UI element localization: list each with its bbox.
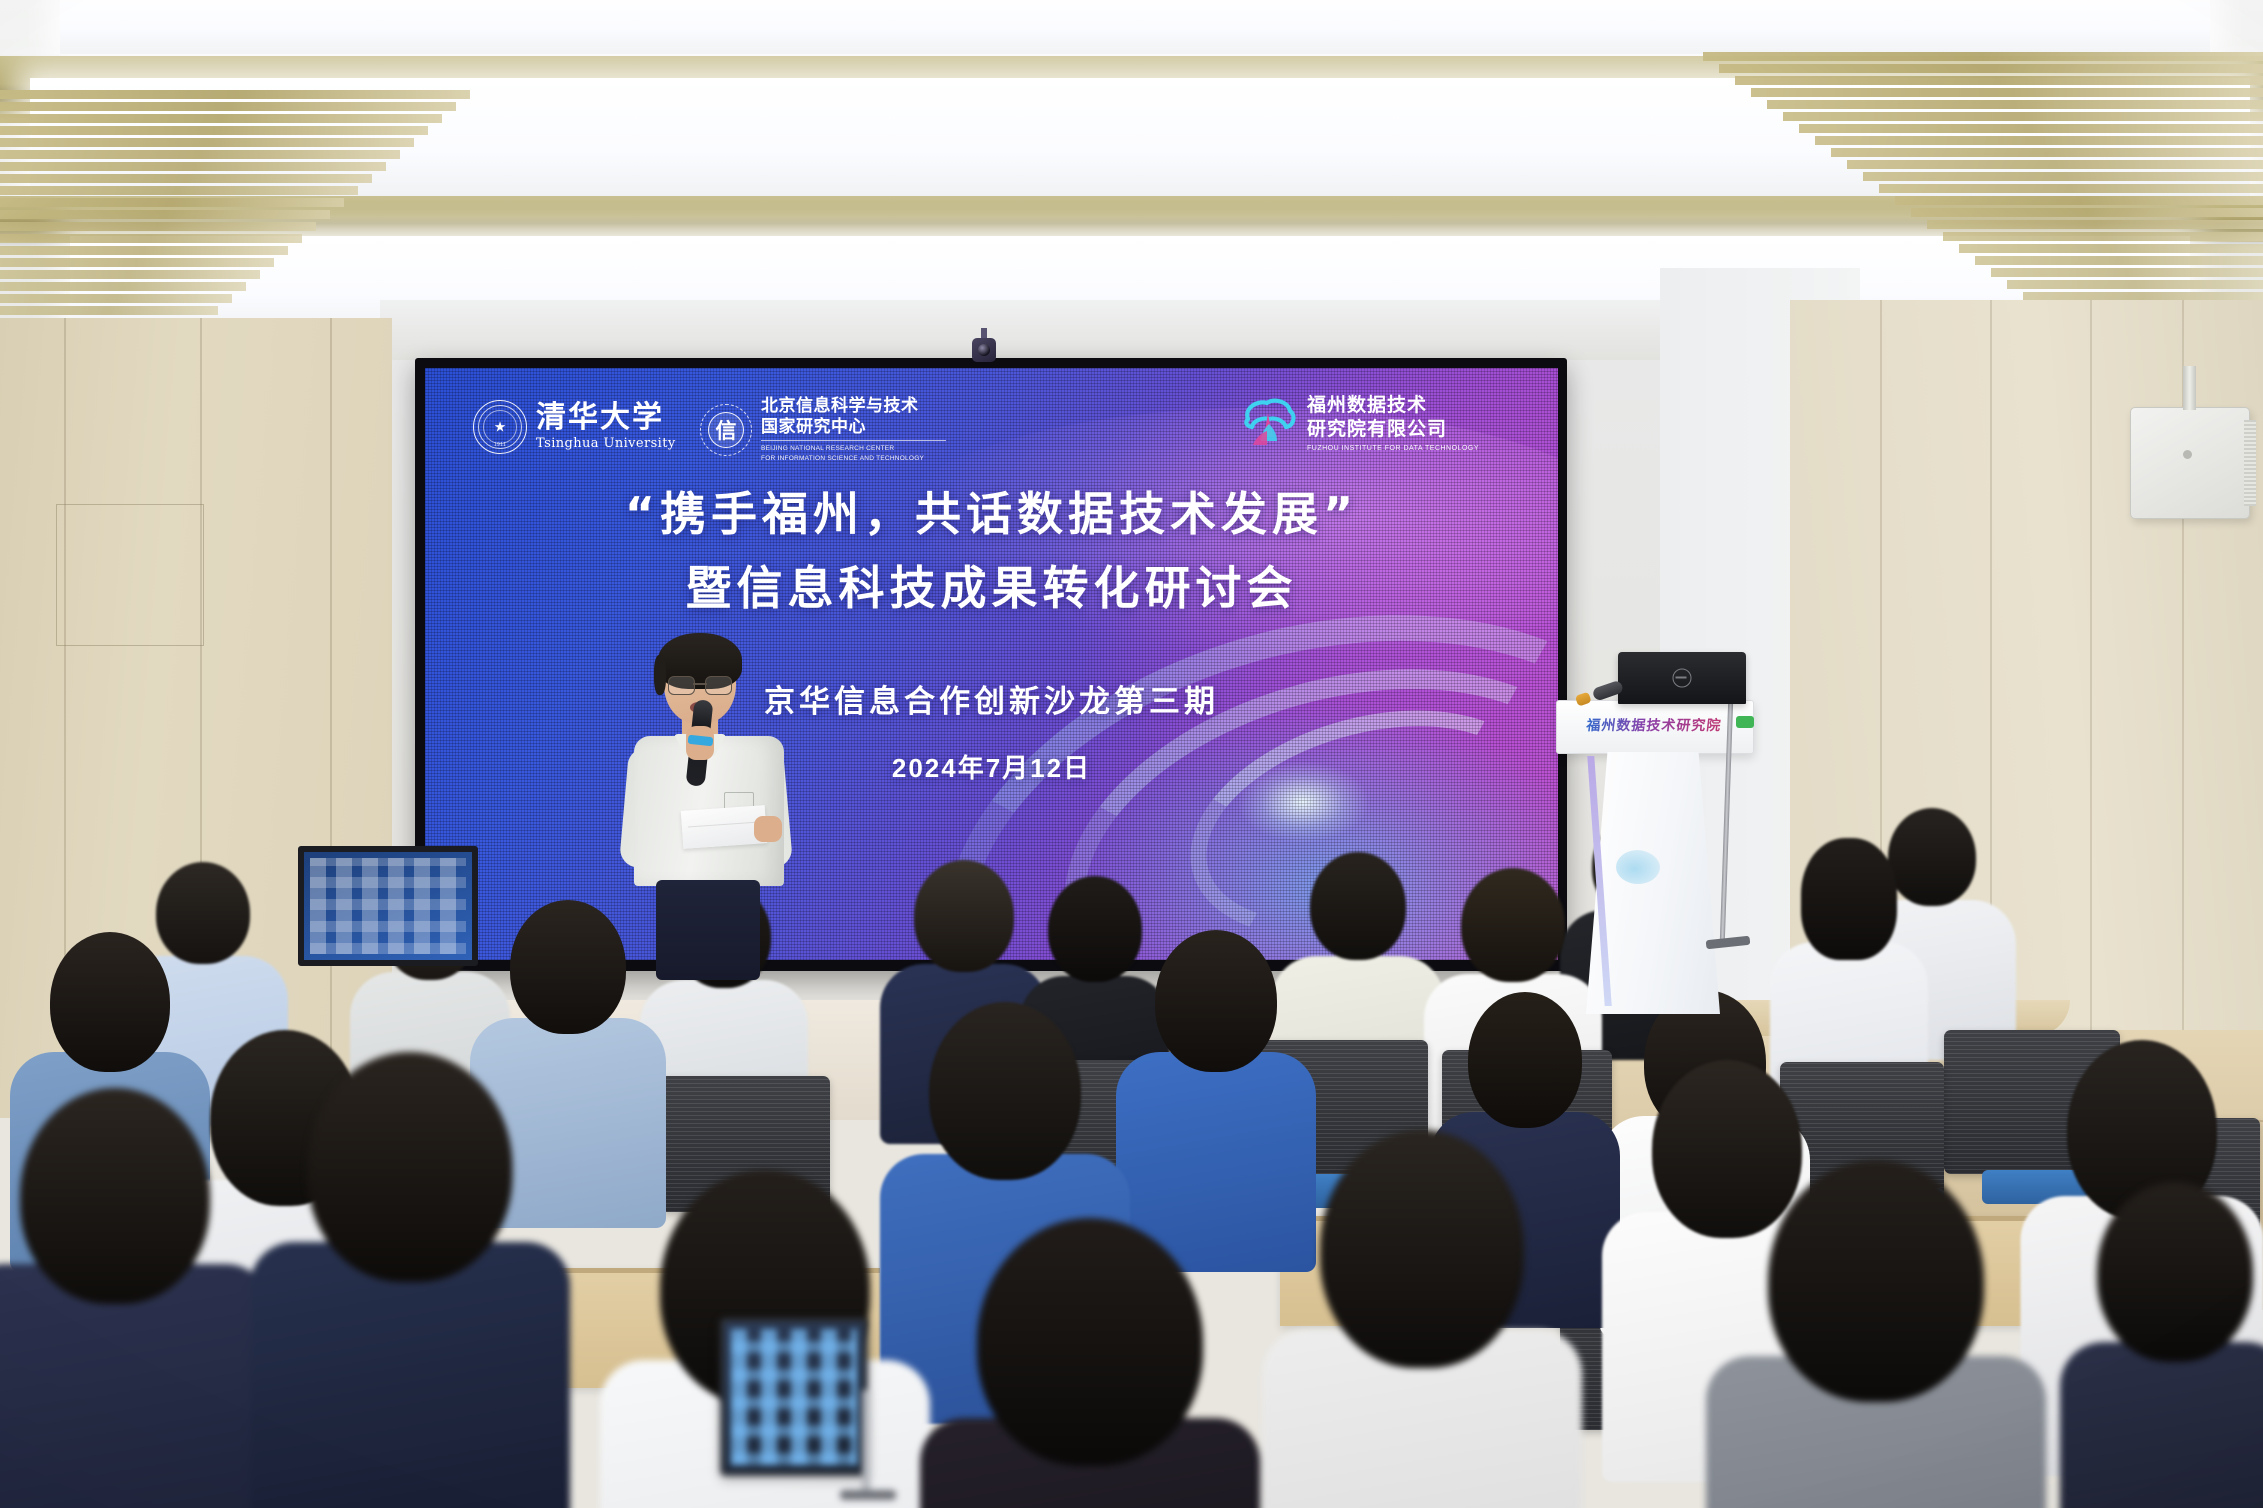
presenter xyxy=(620,640,800,970)
seal-year: 1911 xyxy=(474,442,526,448)
tsinghua-name-cn: 清华大学 xyxy=(536,403,676,433)
person-body xyxy=(2060,1342,2263,1508)
slide-headline: “携手福州，共话数据技术发展” 暨信息科技成果转化研讨会 xyxy=(425,484,1558,619)
speaker-mount-stem xyxy=(2183,366,2196,410)
podium-sign: 福州数据技术研究院 xyxy=(1578,715,1730,735)
logo-bnrist: 信 北京信息科学与技术 国家研究中心 BEIJING NATIONAL RESE… xyxy=(700,396,946,463)
audience-person xyxy=(2060,1182,2263,1508)
podium-cloud-icon xyxy=(1616,850,1660,884)
person-head xyxy=(308,1052,513,1282)
green-clip-icon xyxy=(1736,716,1754,728)
person-head xyxy=(929,1002,1081,1180)
speaker-grill xyxy=(2244,420,2256,506)
fuzhou-name-cn-2: 研究院有限公司 xyxy=(1307,418,1479,442)
rear-wall-upper-strip xyxy=(380,300,1800,360)
person-head xyxy=(1768,1160,1984,1402)
tsinghua-name-en: Tsinghua University xyxy=(536,436,676,451)
seal-star: ★ xyxy=(494,419,507,433)
bnrist-name-en-2: FOR INFORMATION SCIENCE AND TECHNOLOGY xyxy=(761,454,946,463)
wall-monitor xyxy=(298,846,478,966)
conference-room-photo: ★ 1911 清华大学 Tsinghua University 信 北京信息科学… xyxy=(0,0,2263,1508)
fuzhou-name-cn-1: 福州数据技术 xyxy=(1307,394,1479,418)
speaker-driver-icon xyxy=(2183,450,2192,459)
person-head xyxy=(1801,838,1897,960)
headline-line-1: “携手福州，共话数据技术发展” xyxy=(425,484,1558,546)
ceiling-slats-left xyxy=(0,0,470,330)
wall-speaker xyxy=(2130,407,2250,519)
tablet-app-tiles xyxy=(731,1329,857,1465)
logo-fuzhou: 福州数据技术 研究院有限公司 FUZHOU INSTITUTE FOR DATA… xyxy=(1240,394,1479,452)
person-head xyxy=(977,1218,1203,1466)
person-head xyxy=(2097,1182,2253,1362)
slide-logo-bar: ★ 1911 清华大学 Tsinghua University 信 北京信息科学… xyxy=(425,382,1558,468)
logo-tsinghua: ★ 1911 清华大学 Tsinghua University xyxy=(473,400,676,454)
person-head xyxy=(510,900,626,1034)
left-wall-recessed-panel xyxy=(56,504,204,646)
bnrist-seal-icon: 信 xyxy=(700,404,752,456)
person-head xyxy=(20,1088,210,1304)
presenter-hand-right xyxy=(754,816,782,842)
tablet-stand-stem xyxy=(862,1390,870,1500)
person-head xyxy=(1310,852,1406,960)
person-head xyxy=(1320,1130,1524,1368)
audience-person xyxy=(1262,1130,1582,1508)
fuzhou-banyan-tree-icon xyxy=(1240,397,1298,449)
control-tablet[interactable] xyxy=(720,1318,868,1476)
bnrist-name-en-1: BEIJING NATIONAL RESEARCH CENTER xyxy=(761,444,946,453)
audience-person xyxy=(0,1088,270,1508)
person-head xyxy=(1461,868,1565,982)
laptop[interactable] xyxy=(1618,652,1746,704)
fuzhou-name-en: FUZHOU INSTITUTE FOR DATA TECHNOLOGY xyxy=(1307,445,1479,452)
person-head xyxy=(50,932,170,1072)
audience-person xyxy=(920,1218,1260,1508)
presenter-trousers xyxy=(656,880,760,980)
glasses-icon xyxy=(668,676,732,693)
slide-date: 2024年7月12日 xyxy=(425,748,1558,785)
bnrist-glyph: 信 xyxy=(716,415,737,445)
tablet-stand-foot xyxy=(840,1490,896,1500)
slide-subtitle: 京华信息合作创新沙龙第三期 xyxy=(425,676,1558,721)
bnrist-name-cn-2: 国家研究中心 xyxy=(761,417,946,438)
laptop-logo-icon xyxy=(1673,669,1692,688)
headline-line-2: 暨信息科技成果转化研讨会 xyxy=(425,558,1558,620)
person-head xyxy=(1155,930,1277,1072)
bnrist-name-cn-1: 北京信息科学与技术 xyxy=(761,396,946,417)
person-head xyxy=(914,860,1014,972)
audience-person xyxy=(1706,1160,2046,1508)
tsinghua-seal-icon: ★ 1911 xyxy=(473,400,527,454)
camera-icon xyxy=(970,328,998,362)
podium: 福州数据技术研究院 xyxy=(1556,700,1752,1020)
audience-person xyxy=(250,1052,570,1508)
